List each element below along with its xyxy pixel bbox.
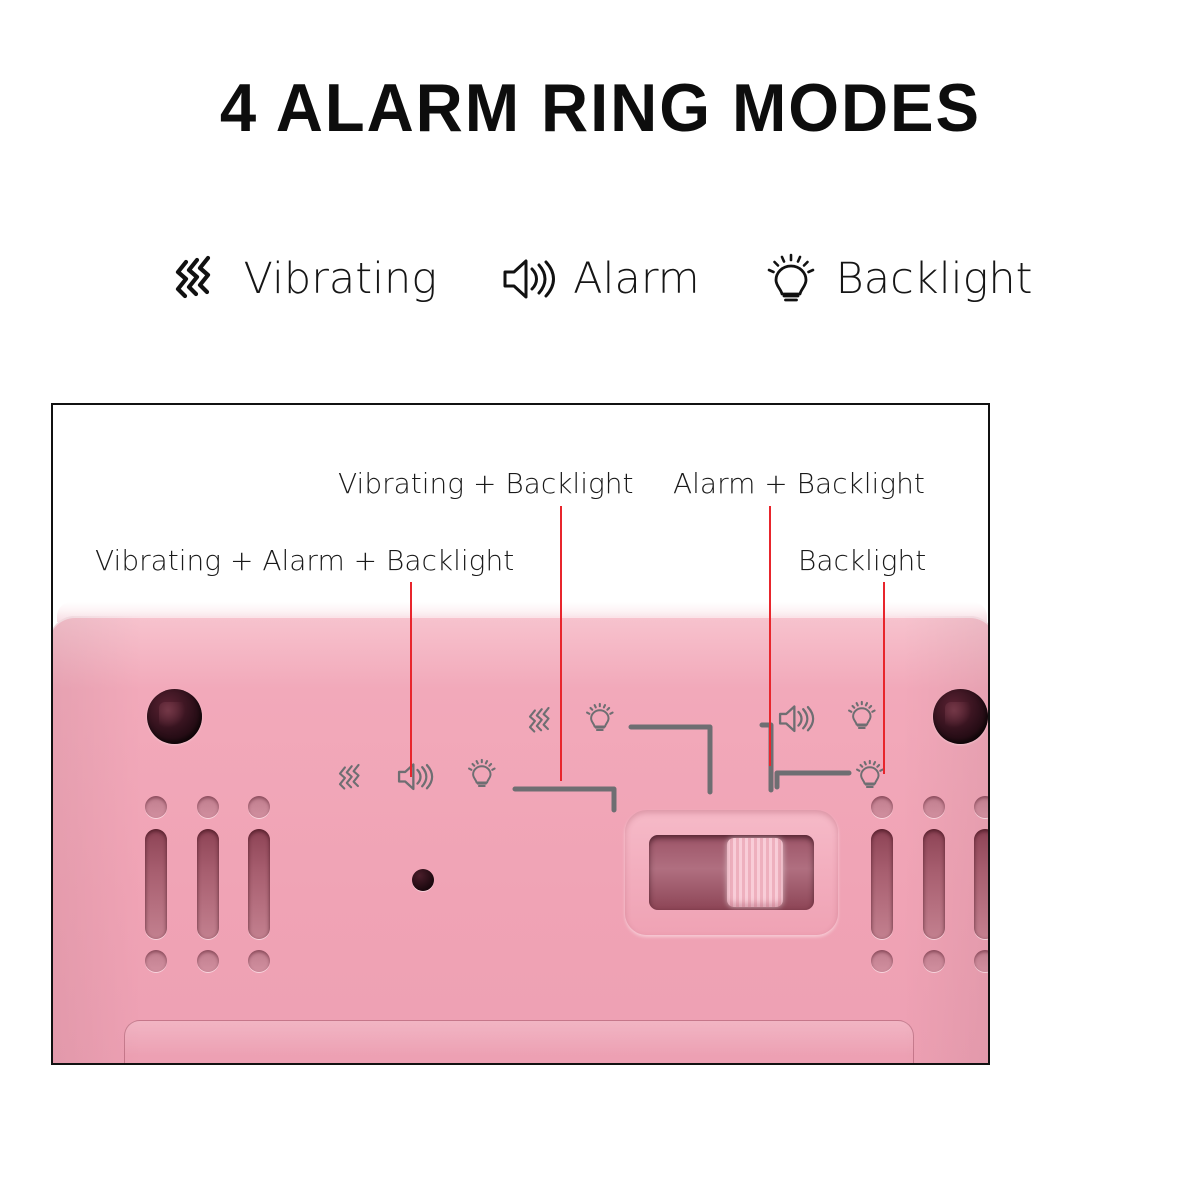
header: 4 ALARM RING MODES (0, 74, 1200, 142)
backlight-icon (760, 248, 822, 310)
legend-item-backlight: Backlight (760, 248, 1033, 310)
product-photo-frame: Vibrating + Alarm + Backlight Vibrating … (51, 403, 990, 1065)
alarm-icon (497, 248, 559, 310)
legend-item-label: Alarm (573, 254, 700, 304)
marking-group-vibrating-backlight (530, 704, 710, 792)
callout-vibrating-backlight: Vibrating + Backlight (338, 467, 634, 500)
callout-backlight: Backlight (798, 544, 926, 577)
leader-line-vibrating-alarm-backlight (410, 582, 412, 777)
leader-line-vibrating-backlight (560, 506, 562, 781)
callout-alarm-backlight: Alarm + Backlight (673, 467, 925, 500)
legend-item-label: Vibrating (244, 254, 438, 304)
marking-group-vibrating-alarm-backlight (340, 760, 614, 810)
page-title: 4 ALARM RING MODES (219, 74, 980, 142)
device-mode-markings (53, 405, 990, 1065)
leader-line-alarm-backlight (769, 506, 771, 766)
legend-item-vibrating: Vibrating (168, 248, 438, 310)
legend-item-label: Backlight (836, 254, 1033, 304)
vibrating-icon (168, 248, 230, 310)
legend-item-alarm: Alarm (497, 248, 700, 310)
leader-line-backlight (883, 582, 885, 774)
callout-vibrating-alarm-backlight: Vibrating + Alarm + Backlight (95, 544, 514, 577)
legend-row: Vibrating Alarm (0, 248, 1200, 310)
marking-group-backlight (777, 761, 883, 787)
